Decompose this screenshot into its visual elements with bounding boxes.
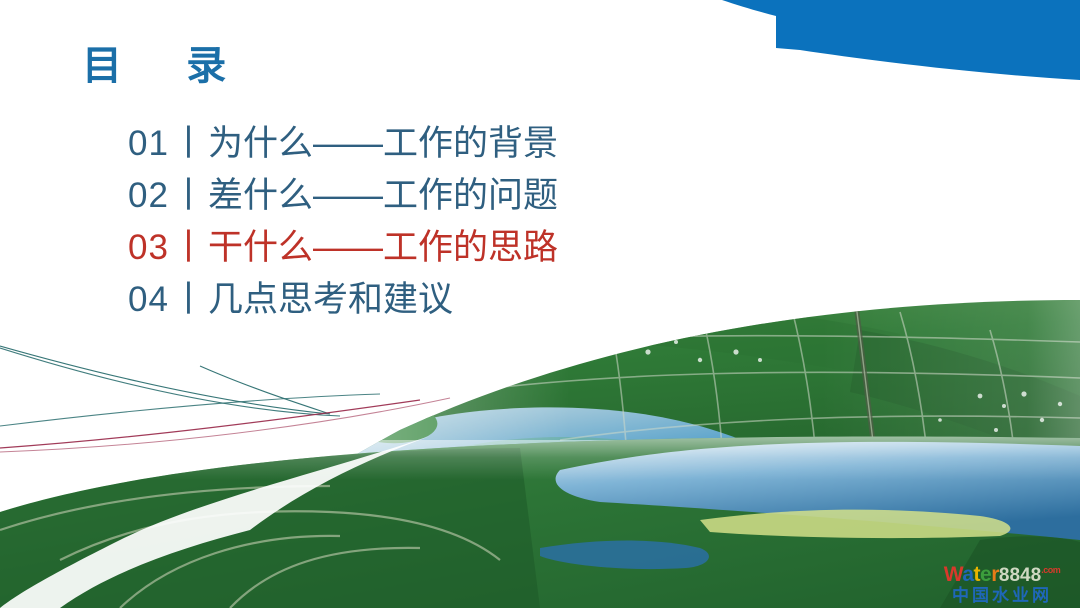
- toc-item-label: 为什么——工作的背景: [208, 124, 558, 163]
- toc-item-label: 几点思考和建议: [208, 280, 453, 319]
- toc-item-label: 干什么——工作的思路: [208, 228, 558, 267]
- reservoir: [556, 442, 1080, 540]
- upper-aerial-photo-band: [230, 290, 1080, 540]
- toc-item-04[interactable]: 04丨几点思考和建议: [128, 274, 768, 326]
- photo-speckles: [598, 336, 1063, 432]
- watermark-number: 8848: [999, 565, 1041, 586]
- presentation-slide: 目 录 01丨为什么——工作的背景 02丨差什么——工作的问题 03丨干什么——…: [0, 0, 1080, 608]
- toc-item-separator: 丨: [169, 280, 208, 319]
- blue-corner-shape: [690, 0, 1080, 90]
- lake-water: [300, 407, 794, 512]
- toc-item-number: 03: [128, 228, 169, 267]
- watermark-latin-text: Water8848.com: [932, 564, 1072, 585]
- watermark-letter-e: e: [980, 563, 991, 586]
- toc-item-separator: 丨: [169, 176, 208, 215]
- island: [352, 406, 437, 443]
- table-of-contents-list: 01丨为什么——工作的背景 02丨差什么——工作的问题 03丨干什么——工作的思…: [128, 118, 768, 326]
- white-crescent: [0, 436, 430, 608]
- toc-item-separator: 丨: [169, 124, 208, 163]
- toc-item-separator: 丨: [169, 228, 208, 267]
- decorative-curves: [0, 346, 450, 452]
- toc-item-label: 差什么——工作的问题: [208, 176, 558, 215]
- watermark-letter-w: W: [944, 563, 963, 586]
- roads: [0, 486, 500, 608]
- watermark-tld: .com: [1041, 565, 1060, 575]
- lower-aerial-photo-band: [0, 420, 1080, 608]
- toc-item-number: 01: [128, 124, 169, 163]
- watermark-logo: Water8848.com 中国水业网: [932, 564, 1072, 604]
- toc-item-number: 04: [128, 280, 169, 319]
- toc-item-01[interactable]: 01丨为什么——工作的背景: [128, 118, 768, 170]
- toc-item-02[interactable]: 02丨差什么——工作的问题: [128, 170, 768, 222]
- sandbar: [700, 510, 1010, 538]
- toc-item-number: 02: [128, 176, 169, 215]
- park-pathways: [420, 302, 1080, 530]
- page-title: 目 录: [82, 44, 240, 88]
- toc-item-03[interactable]: 03丨干什么——工作的思路: [128, 222, 768, 274]
- watermark-letter-a: a: [962, 563, 973, 586]
- watermark-chinese-text: 中国水业网: [932, 587, 1072, 604]
- watermark-letter-r: r: [991, 563, 999, 586]
